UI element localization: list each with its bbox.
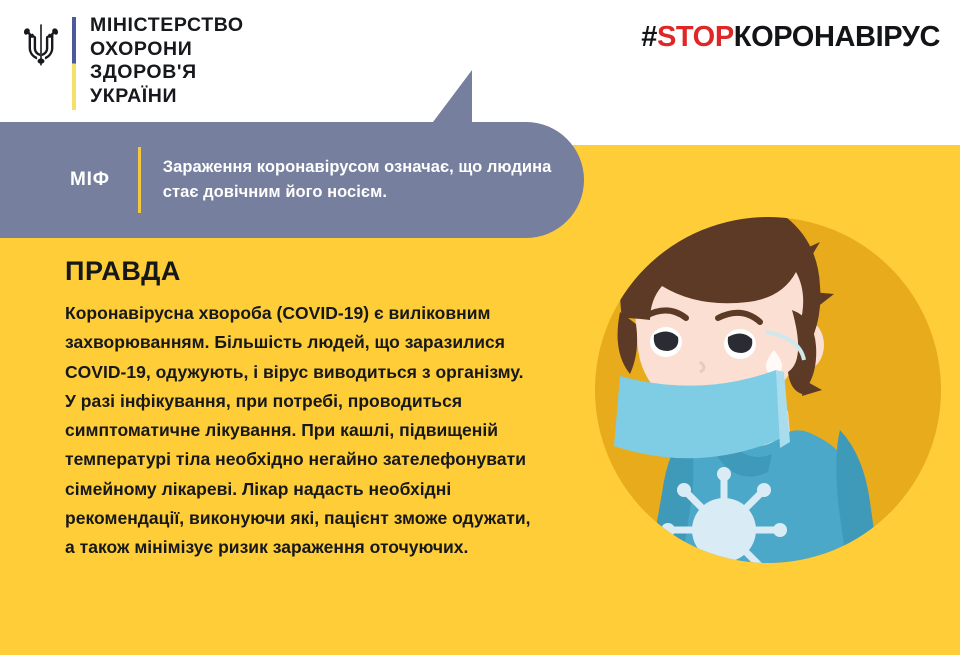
sad-boy-wearing-mask-illustration — [560, 180, 960, 620]
ministry-line-4: УКРАЇНИ — [90, 85, 244, 109]
ministry-line-3: ЗДОРОВ'Я — [90, 61, 244, 85]
myth-text: Зараження коронавірусом означає, що люди… — [163, 155, 570, 205]
myth-label: МІФ — [70, 169, 110, 191]
ministry-logo: МІНІСТЕРСТВО ОХОРОНИ ЗДОРОВ'Я УКРАЇНИ — [24, 14, 244, 114]
infographic-poster: МІНІСТЕРСТВО ОХОРОНИ ЗДОРОВ'Я УКРАЇНИ #S… — [0, 0, 960, 655]
hair-spike-1 — [600, 258, 626, 276]
myth-bubble-tail — [430, 70, 472, 126]
truth-title: ПРАВДА — [65, 256, 181, 287]
ukraine-trident-icon — [24, 22, 58, 68]
ministry-name: МІНІСТЕРСТВО ОХОРОНИ ЗДОРОВ'Я УКРАЇНИ — [90, 14, 244, 108]
myth-content: МІФ Зараження коронавірусом означає, що … — [70, 122, 570, 238]
illustration-canvas — [560, 180, 960, 620]
hashtag-stop: STOP — [657, 21, 734, 53]
hair-spike-3 — [728, 184, 742, 206]
ministry-line-2: ОХОРОНИ — [90, 38, 244, 62]
hashtag-koronavirus: КОРОНАВІРУС — [734, 21, 940, 53]
ministry-line-1: МІНІСТЕРСТВО — [90, 14, 244, 38]
truth-body: Коронавірусна хвороба (COVID-19) є вилік… — [65, 299, 535, 563]
campaign-hashtag: #STOPКОРОНАВІРУС — [641, 20, 940, 54]
coronavirus-icon — [661, 467, 787, 593]
truth-paragraph: Коронавірусна хвороба (COVID-19) є вилік… — [65, 299, 535, 563]
myth-divider — [138, 147, 141, 213]
hair-spike-2 — [656, 204, 672, 228]
flag-divider — [72, 17, 76, 110]
hashtag-symbol: # — [641, 21, 657, 53]
